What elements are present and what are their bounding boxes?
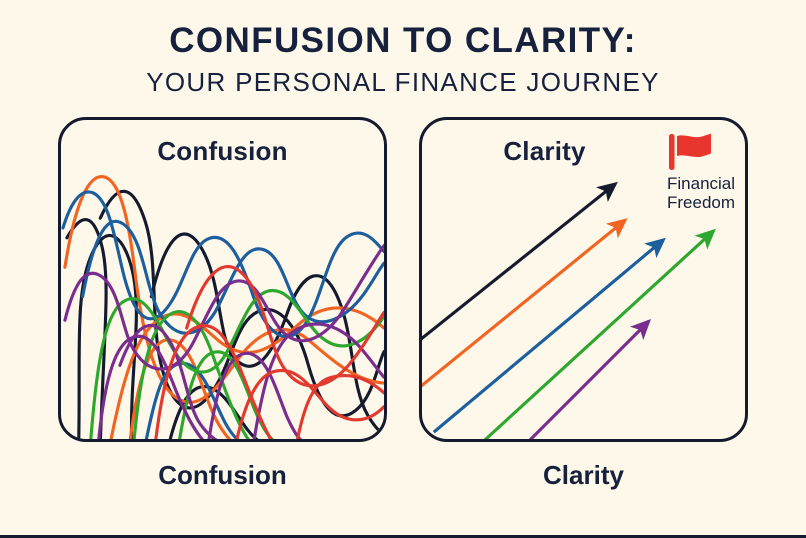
page-title: Confusion to Clarity: (0, 22, 806, 60)
financial-freedom-label: Financial Freedom (667, 174, 729, 212)
poster-header: Confusion to Clarity: Your Personal Fina… (0, 22, 806, 96)
clarity-panel: Clarity Financial Freedom (419, 117, 748, 442)
infographic-poster: Confusion to Clarity: Your Personal Fina… (0, 0, 806, 538)
financial-freedom-label-line2: Freedom (667, 193, 729, 212)
confusion-panel: Confusion (58, 117, 387, 442)
financial-freedom-marker: Financial Freedom (667, 132, 729, 212)
confusion-tangled-lines-graphic (61, 120, 384, 439)
red-flag-icon (667, 132, 713, 172)
confusion-caption: Confusion (58, 460, 387, 491)
confusion-panel-heading: Confusion (61, 136, 384, 167)
page-subtitle: Your Personal Finance Journey (0, 68, 806, 97)
financial-freedom-label-line1: Financial (667, 174, 729, 193)
clarity-caption: Clarity (419, 460, 748, 491)
